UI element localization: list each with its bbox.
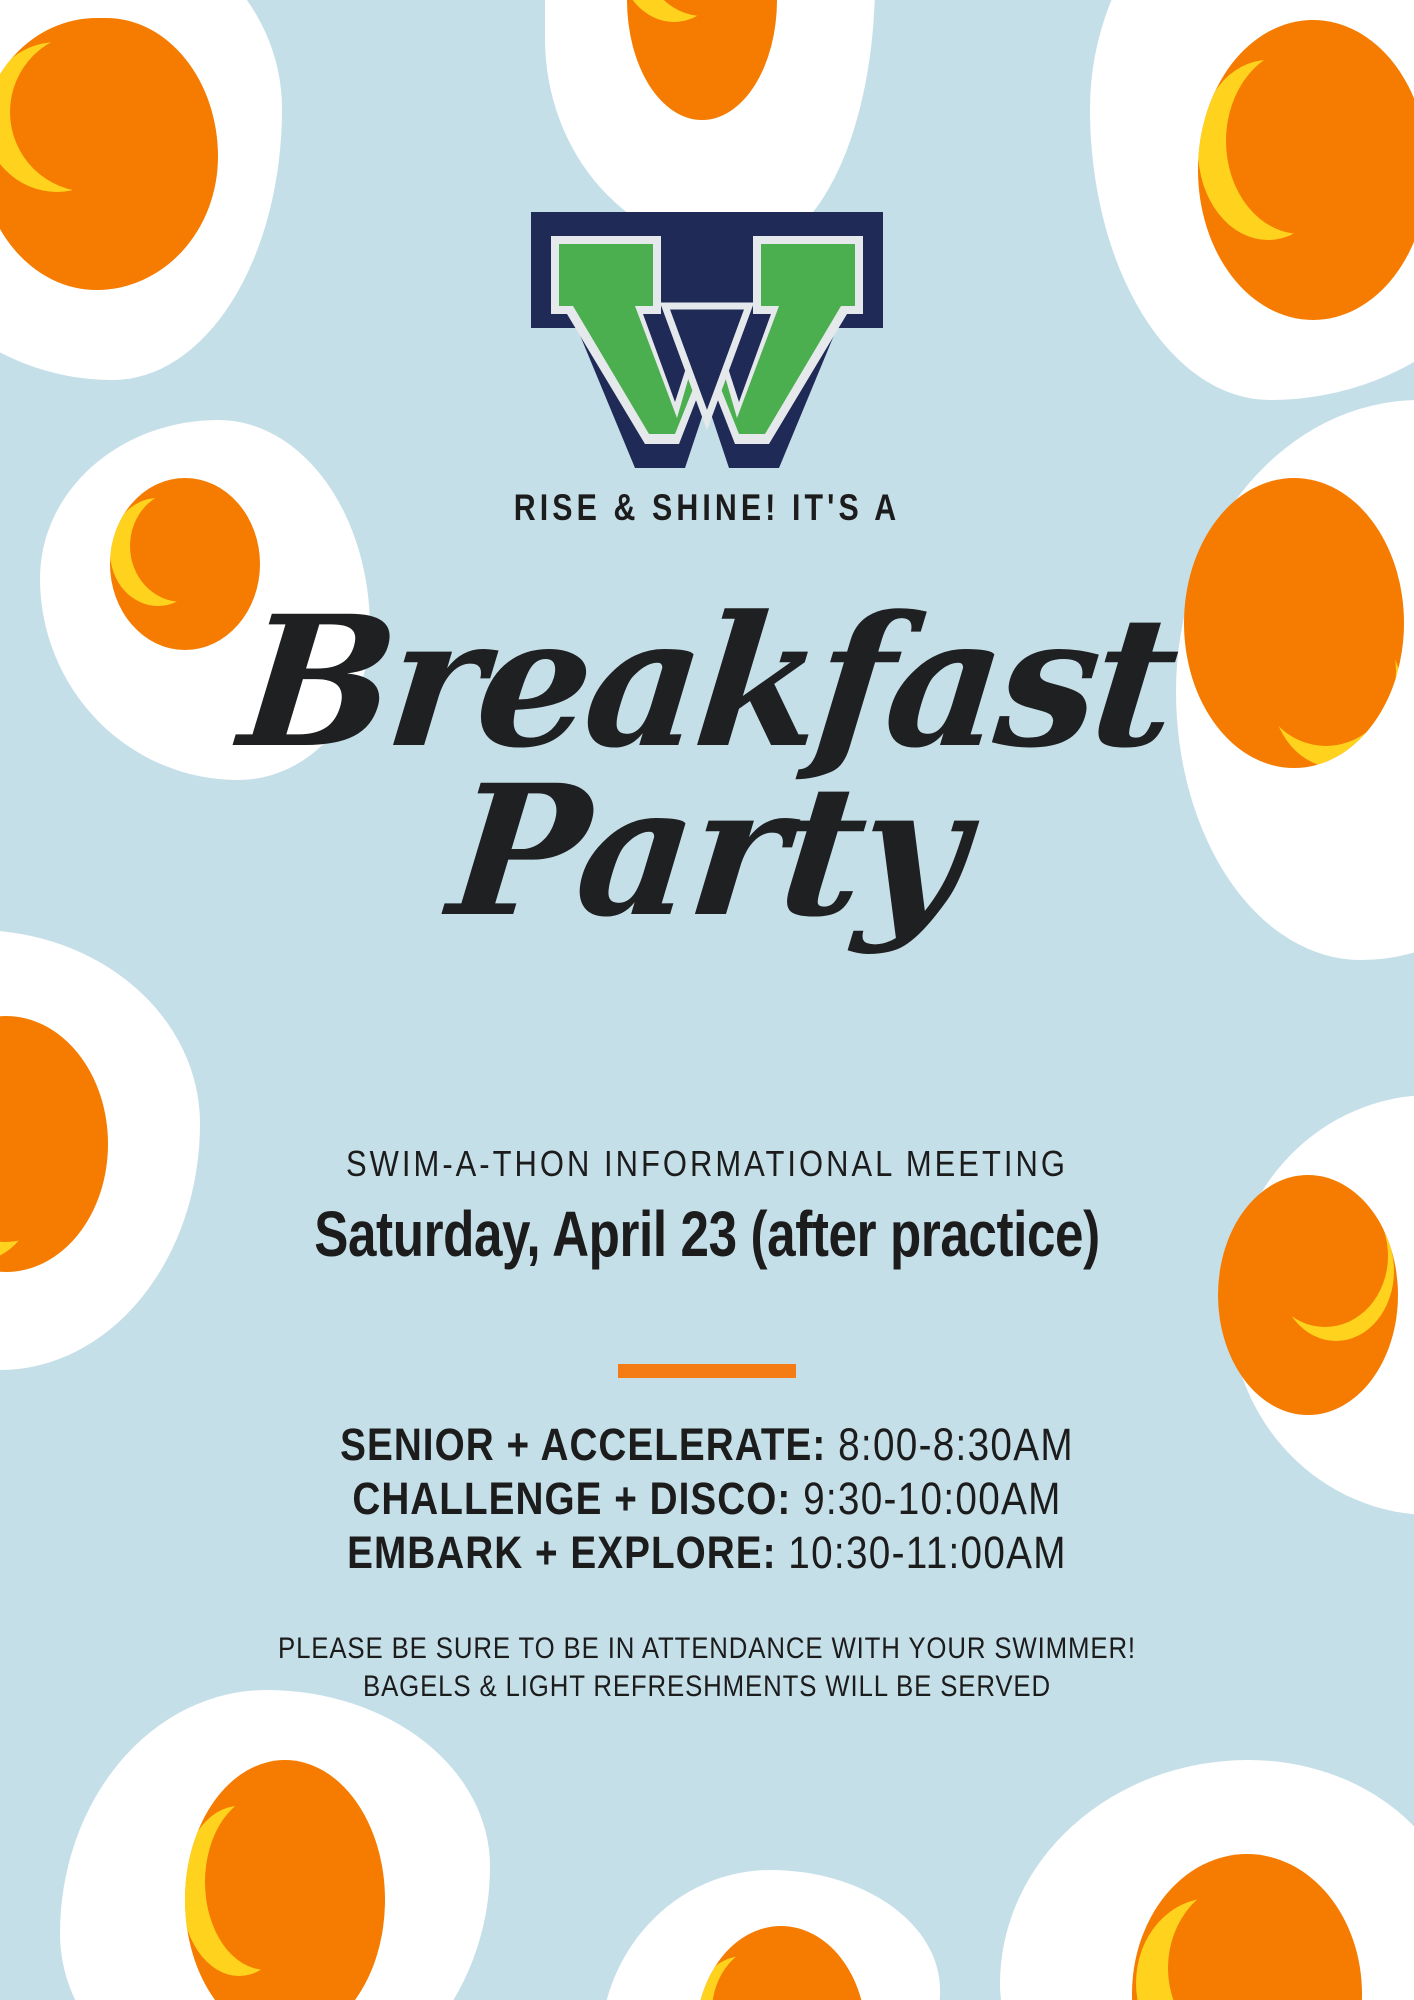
egg-highlight-cut (0, 1090, 74, 1242)
egg-highlight-cut (205, 1794, 327, 1970)
poster-date-line: Saturday, April 23 (after practice) (141, 1197, 1272, 1271)
schedule-time-value: 8:00-8:30AM (838, 1419, 1074, 1470)
decorative-egg (1000, 1760, 1414, 2000)
decorative-egg (60, 1690, 490, 2000)
schedule-time-value: 9:30-10:00AM (803, 1473, 1062, 1524)
decorative-egg (40, 420, 370, 780)
logo-container (0, 206, 1414, 474)
egg-highlight-cut (1262, 1185, 1388, 1327)
breakfast-party-poster: RISE & SHINE! IT'S A Breakfast Party SWI… (0, 0, 1414, 2000)
egg-highlight-cut (1256, 596, 1396, 746)
schedule-row: SENIOR + ACCELERATE: 8:00-8:30AM (99, 1418, 1315, 1472)
poster-footnote: PLEASE BE SURE TO BE IN ATTENDANCE WITH … (0, 1630, 1414, 1706)
schedule-row: EMBARK + EXPLORE: 10:30-11:00AM (99, 1526, 1315, 1580)
decorative-egg (600, 1870, 940, 2000)
egg-highlight-cut (712, 1944, 828, 2000)
poster-subhead: SWIM-A-THON INFORMATIONAL MEETING (99, 1143, 1315, 1185)
decorative-egg (1176, 400, 1414, 960)
poster-kicker: RISE & SHINE! IT'S A (127, 487, 1286, 529)
schedule-row: CHALLENGE + DISCO: 9:30-10:00AM (99, 1472, 1315, 1526)
egg-highlight-cut (1168, 1880, 1324, 2000)
orange-divider-rule (618, 1364, 796, 1378)
schedule-group-label: CHALLENGE + DISCO: (352, 1473, 803, 1524)
westfield-w-logo (517, 206, 897, 474)
schedule-group-label: EMBARK + EXPLORE: (347, 1527, 788, 1578)
footnote-line-1: PLEASE BE SURE TO BE IN ATTENDANCE WITH … (99, 1630, 1315, 1668)
schedule-list: SENIOR + ACCELERATE: 8:00-8:30AM CHALLEN… (0, 1418, 1414, 1580)
egg-highlight-cut (10, 32, 170, 192)
footnote-line-2: BAGELS & LIGHT REFRESHMENTS WILL BE SERV… (99, 1668, 1315, 1706)
schedule-time-value: 10:30-11:00AM (788, 1527, 1067, 1578)
schedule-group-label: SENIOR + ACCELERATE: (340, 1419, 838, 1470)
